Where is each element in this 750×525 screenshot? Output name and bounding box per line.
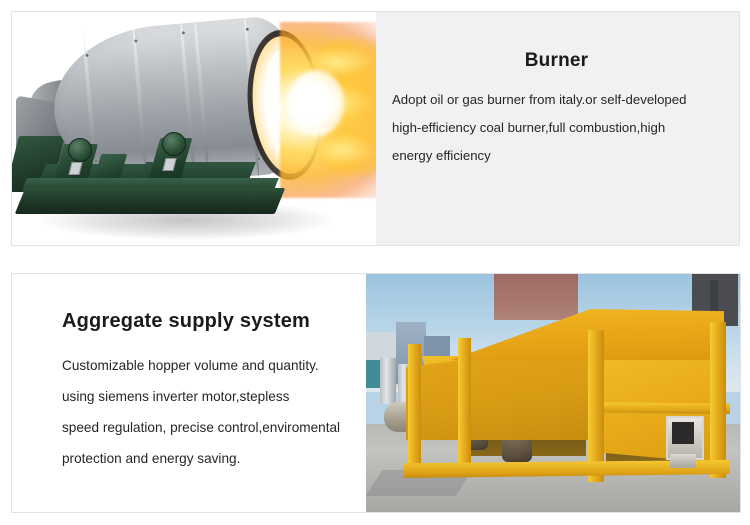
burner-roller-wheel — [162, 132, 186, 156]
burner-illustration — [12, 12, 376, 245]
burner-rivet — [134, 39, 137, 42]
aggregate-heading: Aggregate supply system — [62, 310, 352, 333]
burner-band-4 — [193, 20, 211, 182]
feature-panel-burner: Burner Adopt oil or gas burner from ital… — [11, 11, 740, 246]
burner-rivet — [246, 28, 249, 31]
aggregate-description: Customizable hopper volume and quantity.… — [62, 350, 352, 474]
hopper-post — [458, 338, 471, 474]
feature-panel-aggregate: Aggregate supply system Customizable hop… — [11, 273, 741, 513]
burner-base-plate — [15, 188, 286, 214]
burner-image — [12, 12, 376, 245]
background-silo — [380, 358, 396, 404]
hopper-post — [408, 344, 421, 470]
control-panel-screen — [672, 422, 694, 444]
burner-description: Adopt oil or gas burner from italy.or se… — [392, 86, 721, 170]
hopper-post — [710, 322, 726, 478]
burner-roller-wheel — [68, 138, 92, 162]
aggregate-image — [366, 274, 740, 512]
burner-flame-core — [288, 70, 344, 136]
page-root: Burner Adopt oil or gas burner from ital… — [0, 0, 750, 525]
aggregate-copy: Aggregate supply system Customizable hop… — [12, 274, 366, 512]
aggregate-photo — [366, 274, 740, 512]
control-panel-base — [670, 454, 696, 468]
hopper-beam — [590, 402, 730, 414]
burner-copy: Burner Adopt oil or gas burner from ital… — [376, 12, 739, 245]
burner-rivet — [85, 54, 88, 57]
burner-rivet — [95, 159, 98, 162]
burner-rivet — [182, 31, 185, 34]
hopper-post — [588, 330, 604, 482]
burner-heading: Burner — [392, 50, 721, 72]
burner-rivet — [257, 157, 260, 160]
background-building — [494, 274, 578, 320]
